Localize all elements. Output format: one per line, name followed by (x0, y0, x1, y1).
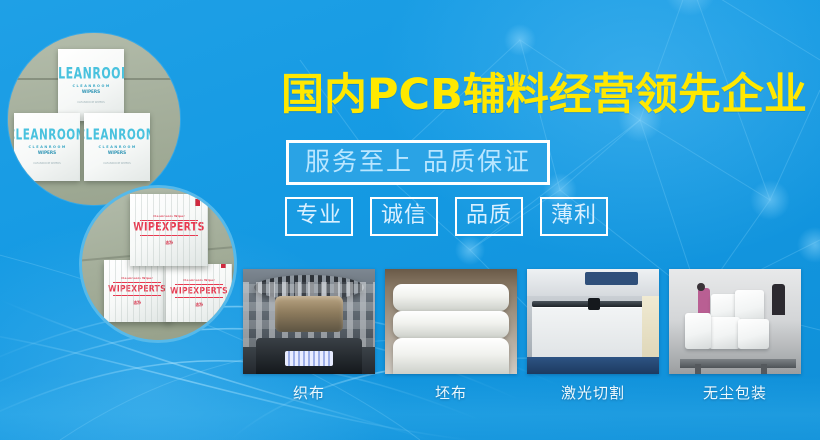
cleanroom-package: CLEANROOM C L E A N R O O M WIPERS CLEAN… (58, 49, 124, 121)
cleanroom-footnote-text: CLEANROOM WIPERS (103, 162, 131, 165)
worker-head-decoration (697, 283, 705, 291)
cutting-bed-decoration (532, 307, 653, 362)
process-thumbnail-strip: 织布 坯布 激光切割 (243, 269, 802, 403)
fabric-glow-decoration (285, 351, 333, 366)
wipexperts-package: Cleanroom Wiper WIPEXPERTS 洁净 (104, 260, 170, 322)
process-caption: 织布 (243, 382, 375, 403)
cleanroom-brand-text: CLEANROOM (58, 64, 124, 83)
wipexperts-package: Cleanroom Wiper WIPEXPERTS 洁净 (130, 194, 208, 266)
cleanroom-brand-text: CLEANROOM (14, 126, 80, 143)
keyword-tag: 品质 (455, 197, 523, 236)
wipexperts-rule (113, 295, 162, 296)
machine-top-decoration (585, 272, 638, 285)
process-item: 坯布 (385, 269, 517, 403)
process-caption: 激光切割 (527, 382, 659, 403)
red-stamp-icon (221, 264, 226, 268)
fabric-roll-decoration (393, 284, 509, 311)
laser-cutting-photo (527, 269, 659, 374)
wipexperts-mark-text: 洁净 (133, 300, 141, 306)
worker-decoration (772, 284, 785, 316)
table-leg-decoration (695, 364, 700, 375)
knitting-machine-photo (243, 269, 375, 374)
fabric-bale-decoration (709, 317, 741, 349)
promotional-banner: CLEANROOM C L E A N R O O M WIPERS CLEAN… (0, 0, 820, 440)
wipexperts-tiny-text: Cleanroom Wiper (121, 276, 153, 280)
keyword-tag-group: 专业 诚信 品质 薄利 (285, 197, 608, 236)
keyword-tag: 专业 (285, 197, 353, 236)
fabric-bale-decoration (738, 319, 770, 348)
wipexperts-package: Cleanroom Wiper WIPEXPERTS 洁净 (166, 264, 232, 322)
wipexperts-tiny-text: Cleanroom Wiper (183, 278, 215, 282)
fabric-side-decoration (642, 296, 659, 361)
process-item: 激光切割 (527, 269, 659, 403)
wipexperts-stack-scene: Cleanroom Wiper WIPEXPERTS 洁净 Cleanroom … (82, 188, 234, 340)
fabric-rolls-photo (385, 269, 517, 374)
wipexperts-brand-text: WIPEXPERTS (133, 221, 204, 234)
fabric-roll-decoration (393, 311, 509, 338)
process-item: 织布 (243, 269, 375, 403)
red-stamp-icon (195, 199, 200, 206)
cleanroom-wipers-text: WIPERS (82, 89, 100, 94)
wipexperts-wipes-photo: Cleanroom Wiper WIPEXPERTS 洁净 Cleanroom … (79, 185, 237, 343)
wipexperts-tiny-text: Cleanroom Wiper (153, 214, 185, 218)
cleanroom-shelf-scene: CLEANROOM C L E A N R O O M WIPERS CLEAN… (8, 33, 180, 205)
cleanroom-wipes-photo: CLEANROOM C L E A N R O O M WIPERS CLEAN… (8, 33, 180, 205)
wipexperts-brand-text: WIPEXPERTS (108, 283, 166, 294)
wipexperts-mark-text: 洁净 (195, 302, 203, 308)
cleanroom-subline-text: C L E A N R O O M (72, 84, 109, 88)
machine-hub-decoration (275, 296, 344, 332)
cleanroom-brand-text: CLEANROOM (84, 126, 150, 143)
cleanroom-package: CLEANROOM C L E A N R O O M WIPERS CLEAN… (84, 113, 150, 181)
cleanroom-package: CLEANROOM C L E A N R O O M WIPERS CLEAN… (14, 113, 80, 181)
wipexperts-rule (175, 297, 224, 298)
cleanroom-wipers-text: WIPERS (38, 150, 56, 155)
process-caption: 坯布 (385, 382, 517, 403)
fabric-bale-decoration (685, 313, 711, 349)
worker-decoration (698, 288, 710, 315)
process-caption: 无尘包装 (669, 382, 801, 403)
laser-head-decoration (588, 298, 600, 310)
process-item: 无尘包装 (669, 269, 801, 403)
cleanroom-packaging-photo (669, 269, 801, 374)
table-leg-decoration (761, 364, 766, 375)
wipexperts-brand-text: WIPEXPERTS (170, 285, 228, 296)
cleanroom-footnote-text: CLEANROOM WIPERS (77, 101, 105, 104)
product-photo-group: CLEANROOM C L E A N R O O M WIPERS CLEAN… (0, 0, 250, 440)
keyword-tag: 薄利 (540, 197, 608, 236)
keyword-tag: 诚信 (370, 197, 438, 236)
wipexperts-rule (140, 235, 198, 236)
cleanroom-subline-text: C L E A N R O O M (98, 145, 135, 149)
banner-subtitle: 服务至上 品质保证 (286, 140, 550, 185)
cleanroom-subline-text: C L E A N R O O M (28, 145, 65, 149)
cleanroom-footnote-text: CLEANROOM WIPERS (33, 162, 61, 165)
banner-headline: 国内PCB辅料经营领先企业 (281, 74, 807, 117)
wipexperts-mark-text: 洁净 (165, 240, 173, 246)
fabric-roll-decoration (393, 338, 509, 374)
cleanroom-wipers-text: WIPERS (108, 150, 126, 155)
machine-frame-decoration (527, 357, 659, 374)
